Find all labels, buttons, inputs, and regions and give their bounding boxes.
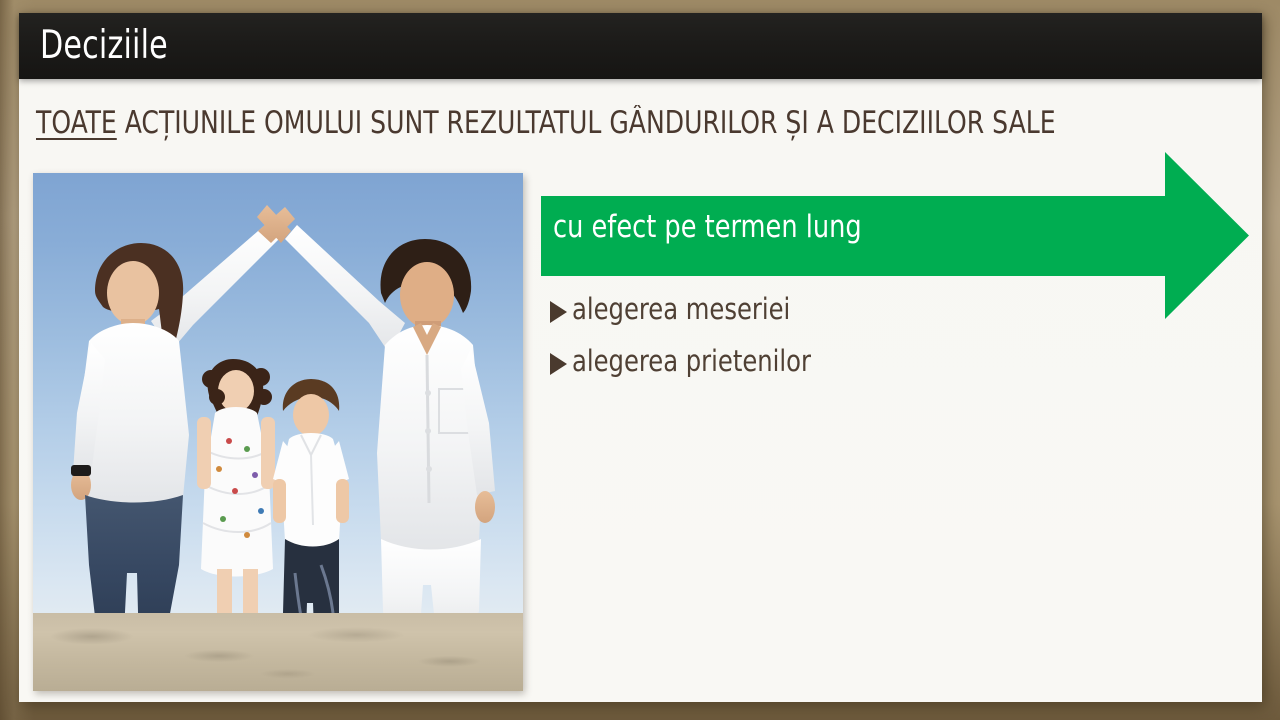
triangle-right-icon xyxy=(550,353,567,375)
list-item-label: alegerea meseriei xyxy=(572,292,790,326)
triangle-right-icon xyxy=(550,301,567,323)
page-title: Deciziile xyxy=(40,18,168,74)
heading-emphasis: TOATE xyxy=(36,105,117,141)
slide-heading: TOATE ACȚIUNILE OMULUI SUNT REZULTATUL G… xyxy=(36,104,1098,142)
heading-rest: ACȚIUNILE OMULUI SUNT REZULTATUL GÂNDURI… xyxy=(117,105,1056,141)
presentation-slide: Deciziile TOATE ACȚIUNILE OMULUI SUNT RE… xyxy=(0,0,1280,720)
list-item-label: alegerea prietenilor xyxy=(572,344,811,378)
arrow-callout-label: cu efect pe termen lung xyxy=(553,208,862,246)
slide-title-bar: Deciziile xyxy=(19,13,1262,79)
bullet-list: alegerea meseriei alegerea prietenilor xyxy=(550,292,1150,396)
photo-sand xyxy=(33,613,523,691)
list-item: alegerea prietenilor xyxy=(550,344,1150,396)
family-on-beach-photo xyxy=(33,173,523,691)
list-item: alegerea meseriei xyxy=(550,292,1150,344)
